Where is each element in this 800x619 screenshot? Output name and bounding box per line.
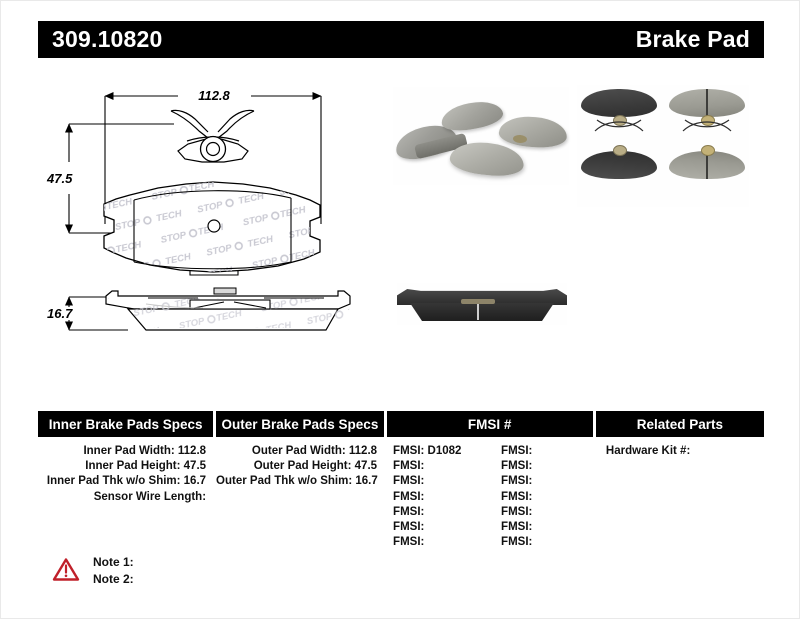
- technical-drawing: STOP TECH STOP STOP TECH: [38, 76, 383, 366]
- pad-center-hole-inner: [207, 143, 220, 156]
- specs-table: Inner Brake Pads Specs Outer Brake Pads …: [38, 411, 764, 550]
- spec-row: Outer Pad Width: 112.8: [216, 444, 384, 459]
- dimension-width-label: 112.8: [198, 88, 230, 103]
- col-header-inner-specs: Inner Brake Pads Specs: [38, 411, 213, 437]
- fmsi-row: FMSI:: [501, 459, 532, 474]
- fmsi-row: FMSI:: [393, 505, 501, 520]
- fmsi-row: FMSI:: [501, 474, 532, 489]
- fmsi-row: FMSI:: [501, 505, 532, 520]
- spec-row: Sensor Wire Length:: [38, 490, 213, 505]
- note-row: Note 1:: [93, 554, 134, 571]
- pad-rivet-hole: [208, 220, 220, 232]
- fmsi-row: FMSI:: [501, 535, 532, 550]
- spec-row: Outer Pad Height: 47.5: [216, 459, 384, 474]
- table-body: Inner Pad Width: 112.8 Inner Pad Height:…: [38, 444, 764, 550]
- note-row: Note 2:: [93, 571, 134, 588]
- dimension-thickness-label: 16.7: [47, 306, 73, 321]
- spec-row: Outer Pad Thk w/o Shim: 16.7: [216, 474, 384, 489]
- notes-section: Note 1: Note 2:: [53, 554, 134, 588]
- dimension-height-label: 47.5: [46, 171, 73, 186]
- pad-front-view: [98, 110, 338, 281]
- fmsi-row: FMSI:: [501, 444, 532, 459]
- col-fmsi: FMSI: D1082 FMSI: FMSI: FMSI: FMSI: FMSI…: [387, 444, 593, 550]
- photo-pad-edge: [397, 283, 567, 325]
- spec-row: Inner Pad Width: 112.8: [38, 444, 213, 459]
- col-header-fmsi: FMSI #: [387, 411, 593, 437]
- related-part-row: Hardware Kit #:: [596, 444, 764, 459]
- pad-side-view: [98, 288, 368, 336]
- page-title: Brake Pad: [636, 26, 750, 53]
- fmsi-row: FMSI:: [393, 459, 501, 474]
- photo-pads-grid: [577, 85, 749, 207]
- fmsi-left-list: FMSI: D1082 FMSI: FMSI: FMSI: FMSI: FMSI…: [387, 444, 501, 550]
- drawing-svg: STOP TECH STOP STOP TECH: [38, 76, 383, 366]
- photo-pads-angled: [393, 87, 569, 185]
- warning-triangle-icon: [53, 558, 79, 581]
- fmsi-right-list: FMSI: FMSI: FMSI: FMSI: FMSI: FMSI: FMSI…: [501, 444, 532, 550]
- fmsi-row: FMSI:: [393, 490, 501, 505]
- col-outer-specs: Outer Pad Width: 112.8 Outer Pad Height:…: [216, 444, 384, 550]
- col-header-outer-specs: Outer Brake Pads Specs: [216, 411, 383, 437]
- fmsi-row: FMSI:: [393, 474, 501, 489]
- fmsi-row: FMSI:: [501, 520, 532, 535]
- fmsi-row: FMSI:: [501, 490, 532, 505]
- pad-springs: [577, 117, 749, 151]
- notes-list: Note 1: Note 2:: [93, 554, 134, 588]
- header-bar: 309.10820 Brake Pad: [38, 21, 764, 58]
- fmsi-row: FMSI: D1082: [393, 444, 501, 459]
- spec-sheet-page: 309.10820 Brake Pad STOP TECH STOP: [0, 0, 800, 619]
- fmsi-row: FMSI:: [393, 535, 501, 550]
- part-number: 309.10820: [52, 26, 163, 53]
- col-related-parts: Hardware Kit #:: [596, 444, 764, 550]
- spec-row: Inner Pad Height: 47.5: [38, 459, 213, 474]
- col-header-related-parts: Related Parts: [596, 411, 764, 437]
- pad-tab-detail: [214, 288, 236, 294]
- fmsi-row: FMSI:: [393, 520, 501, 535]
- table-header-row: Inner Brake Pads Specs Outer Brake Pads …: [38, 411, 764, 437]
- col-inner-specs: Inner Pad Width: 112.8 Inner Pad Height:…: [38, 444, 213, 550]
- spec-row: Inner Pad Thk w/o Shim: 16.7: [38, 474, 213, 489]
